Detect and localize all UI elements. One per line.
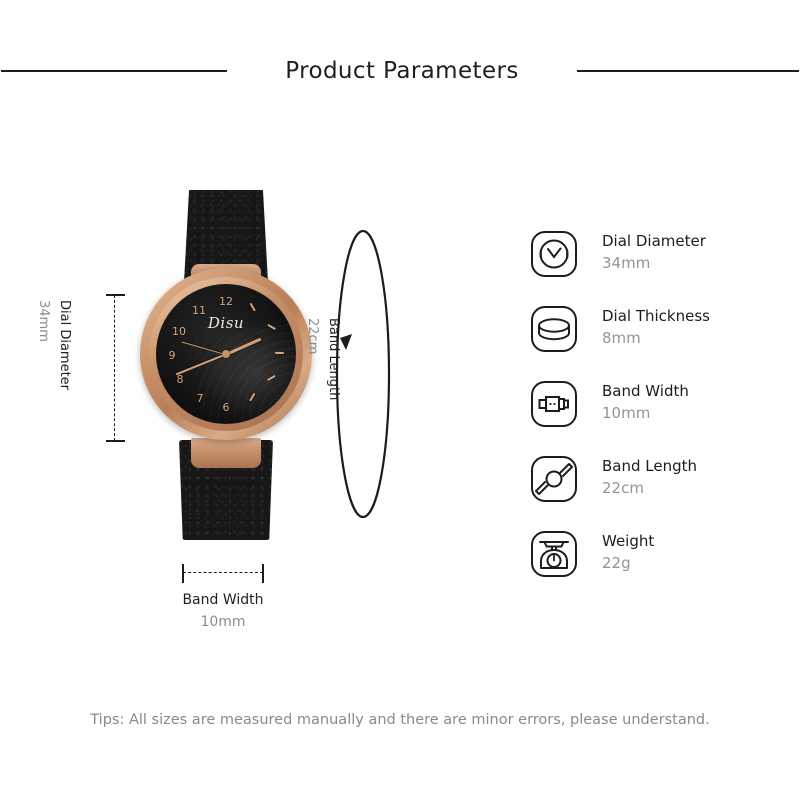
strap-buckle-icon — [528, 378, 580, 430]
watch-case: Disu 12 11 10 9 8 7 6 — [140, 268, 312, 440]
page-header: Product Parameters — [0, 48, 800, 94]
dial-numeral-7: 7 — [191, 393, 209, 404]
spec-row-dial-diameter: Dial Diameter 34mm — [528, 228, 778, 303]
band-length-annotation: Band Length 22cm — [304, 318, 345, 400]
spec-text-band-length: Band Length 22cm — [602, 453, 697, 500]
dial-numeral-9: 9 — [163, 350, 181, 361]
spec-label: Dial Diameter — [602, 231, 706, 253]
dial-diameter-annotation: Dial Diameter 34mm — [35, 300, 76, 390]
hands-pivot — [222, 350, 230, 358]
watch-illustration: Disu 12 11 10 9 8 7 6 — [128, 190, 326, 540]
spec-row-band-width: Band Width 10mm — [528, 378, 778, 453]
spec-value: 34mm — [602, 253, 706, 275]
watch-diagonal-icon — [528, 453, 580, 505]
spec-value: 22cm — [602, 478, 697, 500]
band-width-annotation: Band Width 10mm — [123, 590, 323, 633]
dial-numeral-11: 11 — [190, 305, 208, 316]
dial-diameter-annotation-value: 34mm — [36, 300, 51, 342]
dial-marker-1 — [249, 303, 256, 312]
header-rule-left — [1, 70, 227, 72]
watch-lug-bottom — [191, 438, 261, 468]
band-width-annotation-value: 10mm — [123, 612, 323, 634]
spec-label: Band Width — [602, 381, 689, 403]
header-rule-right — [577, 70, 799, 72]
watch-face-icon — [528, 228, 580, 280]
dial-diameter-annotation-label: Dial Diameter — [57, 300, 72, 390]
spec-text-dial-thickness: Dial Thickness 8mm — [602, 303, 710, 350]
dial-numeral-10: 10 — [170, 326, 188, 337]
dial-numeral-8: 8 — [171, 374, 189, 385]
band-width-annotation-label: Band Width — [123, 590, 323, 612]
page-title: Product Parameters — [285, 58, 518, 84]
watch-dial: Disu 12 11 10 9 8 7 6 — [156, 284, 296, 424]
spec-row-dial-thickness: Dial Thickness 8mm — [528, 303, 778, 378]
dial-numeral-12: 12 — [217, 296, 235, 307]
tips-footer: Tips: All sizes are measured manually an… — [0, 712, 800, 728]
watch-case-inner-ring: Disu 12 11 10 9 8 7 6 — [149, 277, 303, 431]
specification-list: Dial Diameter 34mm Dial Thickness 8mm — [528, 228, 778, 603]
cylinder-puck-icon — [528, 303, 580, 355]
spec-label: Dial Thickness — [602, 306, 710, 328]
spec-text-band-width: Band Width 10mm — [602, 378, 689, 425]
dial-texture — [188, 320, 296, 424]
kitchen-scale-icon — [528, 528, 580, 580]
spec-label: Band Length — [602, 456, 697, 478]
spec-label: Weight — [602, 531, 654, 553]
dial-diameter-dimension-line — [114, 295, 115, 441]
spec-row-band-length: Band Length 22cm — [528, 453, 778, 528]
band-length-annotation-label: Band Length — [326, 318, 341, 400]
spec-text-dial-diameter: Dial Diameter 34mm — [602, 228, 706, 275]
band-width-dimension-line — [183, 572, 263, 573]
spec-value: 8mm — [602, 328, 710, 350]
band-length-annotation-value: 22cm — [305, 318, 320, 354]
spec-value: 22g — [602, 553, 654, 575]
spec-value: 10mm — [602, 403, 689, 425]
dial-numeral-6: 6 — [217, 402, 235, 413]
spec-text-weight: Weight 22g — [602, 528, 654, 575]
spec-row-weight: Weight 22g — [528, 528, 778, 603]
